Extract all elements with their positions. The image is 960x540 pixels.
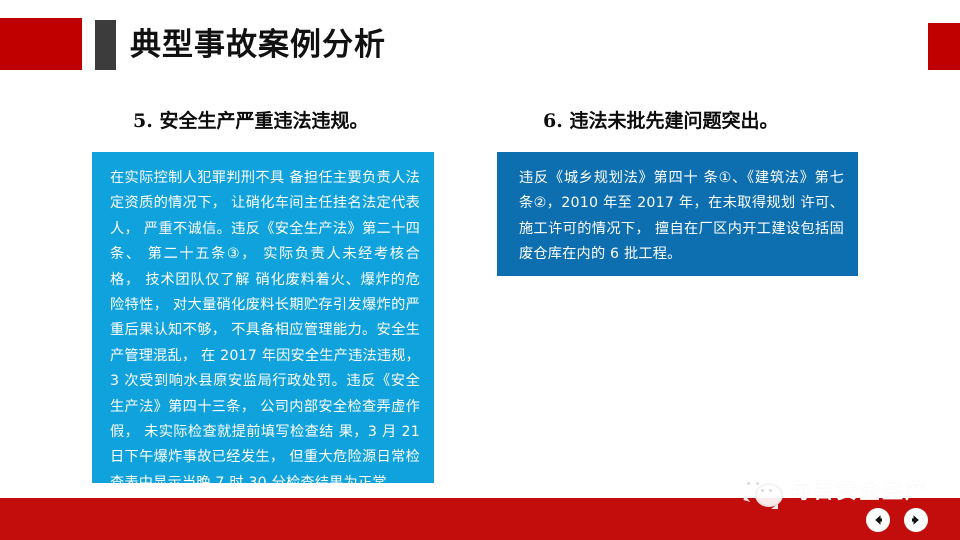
watermark-label: 每日安全生产 (790, 475, 928, 505)
wechat-bubble-small (755, 483, 783, 507)
watermark: 每日安全生产 (740, 473, 928, 507)
left-content-box: 在实际控制人犯罪判刑不具 备担任主要负责人法定资质的情况下， 让硝化车间主任挂名… (92, 152, 434, 483)
slide-canvas: 典型事故案例分析 5. 安全生产严重违法违规。 在实际控制人犯罪判刑不具 备担任… (0, 0, 960, 540)
left-column-heading: 5. 安全生产严重违法违规。 (133, 106, 368, 133)
right-column-heading: 6. 违法未批先建问题突出。 (543, 106, 778, 133)
wechat-icon (740, 475, 782, 505)
arrow-left-icon (871, 513, 885, 527)
page-title: 典型事故案例分析 (130, 20, 386, 70)
right-content-box: 违反《城乡规划法》第四十 条①、《建筑法》第七条②，2010 年至 2017 年… (497, 152, 858, 276)
header-red-block-left (0, 18, 82, 70)
next-slide-button[interactable] (904, 508, 928, 532)
header-red-block-right (928, 23, 960, 70)
header-gray-bar (95, 20, 116, 70)
left-content-text: 在实际控制人犯罪判刑不具 备担任主要负责人法定资质的情况下， 让硝化车间主任挂名… (110, 166, 420, 483)
right-content-text: 违反《城乡规划法》第四十 条①、《建筑法》第七条②，2010 年至 2017 年… (519, 166, 844, 268)
navigation-controls (866, 508, 928, 532)
prev-slide-button[interactable] (866, 508, 890, 532)
arrow-right-icon (909, 513, 923, 527)
